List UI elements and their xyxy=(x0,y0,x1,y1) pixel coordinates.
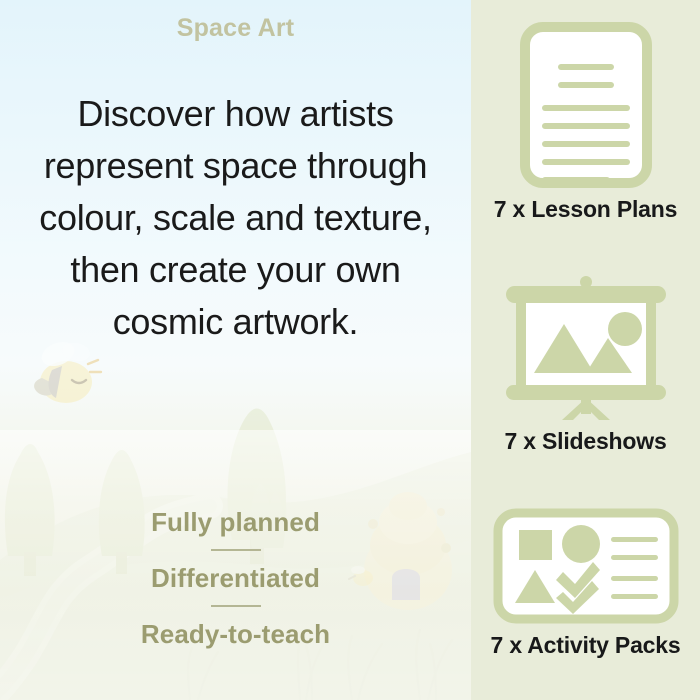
resource-item-slideshows: 7 x Slideshows xyxy=(471,272,700,455)
headline-text: Discover how artists represent space thr… xyxy=(14,88,457,348)
feature-item-2: Differentiated xyxy=(0,561,471,595)
document-icon-wrap xyxy=(471,22,700,188)
activity-card-icon xyxy=(493,508,679,624)
presentation-icon-wrap xyxy=(471,272,700,420)
page-title: Space Art xyxy=(0,14,471,43)
feature-item-3: Ready-to-teach xyxy=(0,617,471,651)
promo-graphic: Space Art Discover how artists represent… xyxy=(0,0,700,700)
resource-item-lesson-plans: 7 x Lesson Plans xyxy=(471,22,700,223)
resource-label-slideshows: 7 x Slideshows xyxy=(471,428,700,455)
presentation-screen-icon xyxy=(494,272,678,420)
feature-list: Fully planned Differentiated Ready-to-te… xyxy=(0,505,471,651)
resource-label-lesson-plans: 7 x Lesson Plans xyxy=(471,196,700,223)
resource-item-activity-packs: 7 x Activity Packs xyxy=(471,508,700,659)
activity-card-icon-wrap xyxy=(471,508,700,624)
feature-divider-2 xyxy=(211,605,261,607)
feature-item-1: Fully planned xyxy=(0,505,471,539)
document-icon xyxy=(520,22,652,188)
resource-label-activity-packs: 7 x Activity Packs xyxy=(471,632,700,659)
left-panel: Space Art Discover how artists represent… xyxy=(0,0,471,700)
right-panel: 7 x Lesson Plans xyxy=(471,0,700,700)
feature-divider-1 xyxy=(211,549,261,551)
